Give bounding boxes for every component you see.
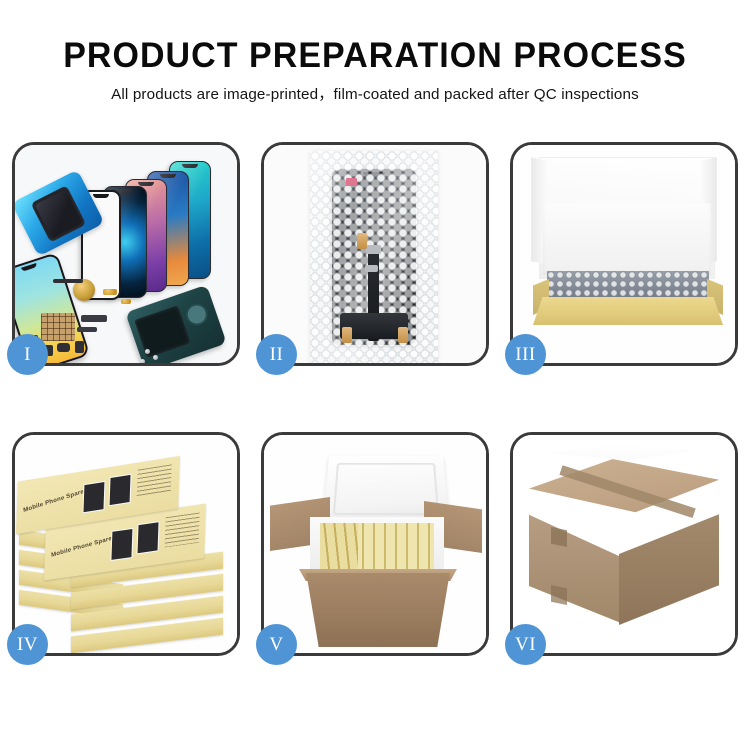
step-2-image — [264, 145, 486, 363]
carton-seam-tab-lower — [551, 585, 567, 605]
open-box-tray — [533, 271, 723, 325]
screw-part — [153, 355, 158, 360]
step-badge-5: V — [256, 624, 297, 665]
adhesive-tape-tab — [398, 327, 408, 343]
retail-box-spec-lines — [137, 464, 172, 499]
retail-box-window-right — [109, 474, 132, 507]
step-3-image — [513, 145, 735, 363]
process-step-panel-1[interactable]: I — [12, 142, 240, 366]
retail-box-stack: Mobile Phone Spare Parts Mobile Phone Sp… — [15, 453, 237, 653]
step-badge-1: I — [7, 334, 48, 375]
adhesive-tape-tab — [342, 327, 352, 343]
camera-module-part — [57, 343, 70, 352]
phone-fan-group — [91, 159, 237, 289]
step-badge-2: II — [256, 334, 297, 375]
sim-tray-part — [75, 341, 84, 353]
page-header: PRODUCT PREPARATION PROCESS All products… — [0, 0, 750, 104]
step-badge-4: IV — [7, 624, 48, 665]
step-badge-6: VI — [505, 624, 546, 665]
page-subtitle: All products are image-printed，film-coat… — [0, 76, 750, 104]
process-step-panel-3[interactable]: III — [510, 142, 738, 366]
phone-notch-icon — [93, 194, 109, 198]
process-step-panel-2[interactable]: II — [261, 142, 489, 366]
process-step-panel-4[interactable]: Mobile Phone Spare Parts Mobile Phone Sp… — [12, 432, 240, 656]
process-step-grid: I II — [12, 142, 738, 682]
white-foam-sheet — [543, 203, 711, 275]
adhesive-tape-tab — [357, 233, 367, 249]
gold-connector-part — [103, 289, 117, 295]
connector-part — [366, 245, 381, 254]
screw-part — [145, 349, 150, 354]
flex-cable-part — [81, 315, 107, 322]
pink-label-sticker — [346, 178, 357, 186]
retail-box-window-right — [137, 521, 160, 554]
antenna-strip-part — [53, 279, 83, 283]
screw-part — [140, 359, 145, 363]
retail-box-window-left — [82, 481, 105, 514]
bubble-wrapped-contents — [547, 271, 709, 301]
bubble-wrap-bag — [310, 151, 438, 363]
retail-box-spec-lines — [165, 513, 200, 548]
page-title: PRODUCT PREPARATION PROCESS — [11, 0, 739, 76]
retail-boxes-inside-angled — [320, 523, 358, 569]
tray-front-wall — [533, 297, 723, 325]
step-6-image — [513, 435, 735, 653]
ic-chip-array — [41, 313, 75, 341]
step-4-image: Mobile Phone Spare Parts Mobile Phone Sp… — [15, 435, 237, 653]
step-5-image — [264, 435, 486, 653]
process-step-panel-6[interactable]: VI — [510, 432, 738, 656]
step-1-image — [15, 145, 237, 363]
gold-connector-part — [121, 299, 131, 304]
connector-part — [365, 265, 378, 272]
carton-seam-tab-upper — [551, 527, 567, 547]
step-badge-3: III — [505, 334, 546, 375]
retail-box-window-left — [110, 528, 133, 561]
process-step-panel-5[interactable]: V — [261, 432, 489, 656]
flex-cable-part — [77, 327, 97, 332]
carton-body — [300, 573, 456, 647]
phone-notch-icon — [21, 263, 37, 272]
